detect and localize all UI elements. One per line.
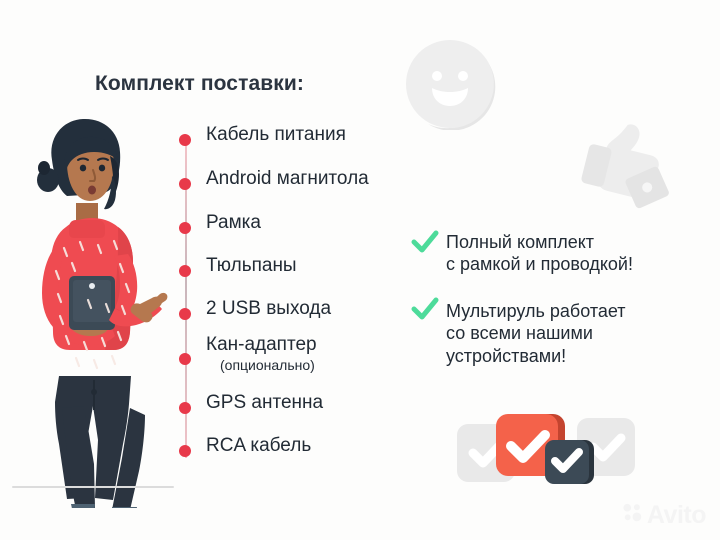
- list-item-label: GPS антенна: [206, 392, 323, 413]
- bullet-dot-icon: [179, 134, 191, 146]
- benefit-text: Мультируль работает со всеми нашими устр…: [446, 297, 626, 367]
- bullet-dot-icon: [179, 308, 191, 320]
- bullet-dot-icon: [179, 265, 191, 277]
- bullet-dot-icon: [179, 222, 191, 234]
- benefit-text: Полный комплект с рамкой и проводкой!: [446, 230, 633, 276]
- thumbs-up-icon: [575, 108, 681, 214]
- avito-watermark: Avito: [622, 502, 706, 528]
- list-item-label: Кабель питания: [206, 124, 346, 145]
- list-item-sublabel: (опционально): [220, 357, 317, 373]
- ground-line: [12, 486, 174, 488]
- check-icon: [411, 296, 439, 324]
- list-item-label: 2 USB выхода: [206, 298, 331, 319]
- bullet-dot-icon: [179, 353, 191, 365]
- list-item-label: RCA кабель: [206, 435, 311, 456]
- bullet-dot-icon: [179, 178, 191, 190]
- list-item-label: Тюльпаны: [206, 255, 297, 276]
- benefit-item: Мультируль работает со всеми нашими устр…: [411, 297, 626, 367]
- list-item-label: Кан-адаптер: [206, 334, 317, 355]
- avito-logo-icon: [622, 502, 643, 528]
- bullet-dot-icon: [179, 402, 191, 414]
- list-item-label: Android магнитола: [206, 168, 369, 189]
- smiley-face-icon: [404, 38, 496, 130]
- avito-wordmark: Avito: [647, 503, 706, 528]
- benefit-item: Полный комплект с рамкой и проводкой!: [411, 230, 633, 276]
- woman-pointing-illustration: [14, 108, 176, 508]
- bullet-dot-icon: [179, 445, 191, 457]
- list-item-label: Рамка: [206, 212, 261, 233]
- page-title: Комплект поставки:: [95, 72, 304, 96]
- check-icon: [411, 229, 439, 257]
- promo-banner: Комплект поставки: Кабель питания Androi…: [0, 0, 720, 540]
- checkbox-cards-icon: [455, 404, 635, 496]
